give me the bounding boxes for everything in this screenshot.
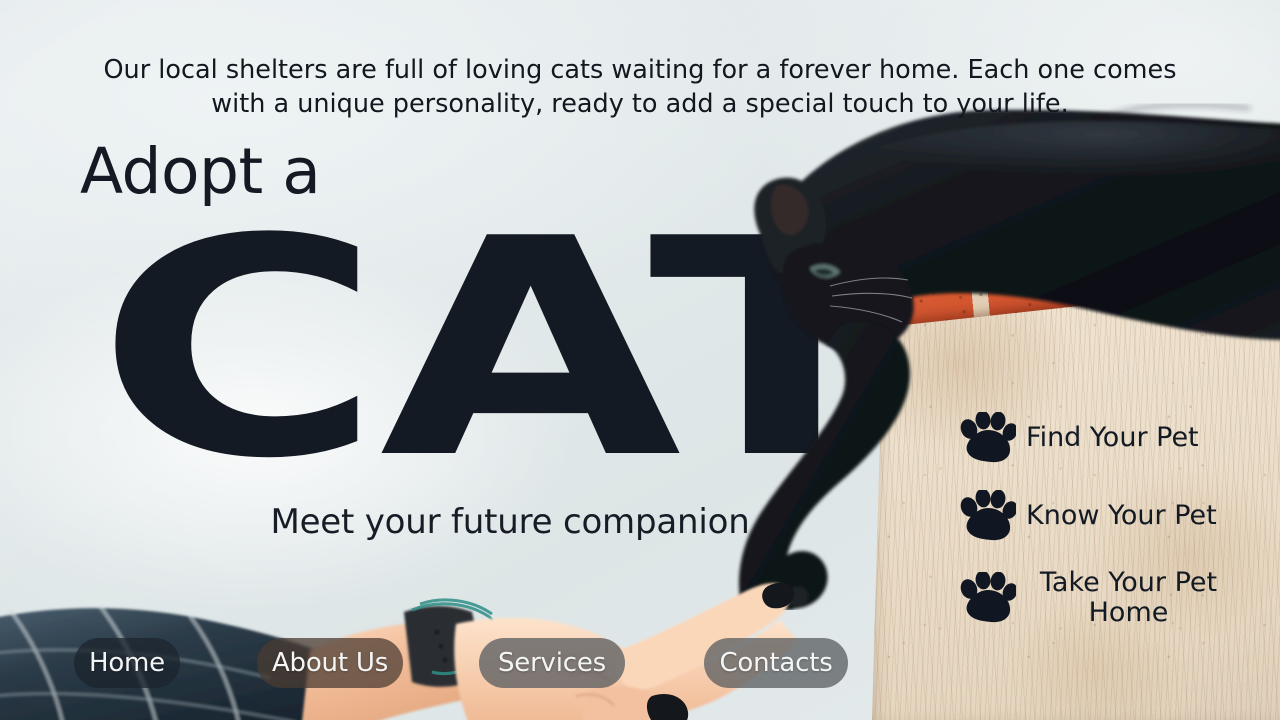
nav-item-home[interactable]: Home [74,638,180,688]
eyebrow-text: Adopt a [80,140,320,203]
feature-list: Find Your Pet Know Your Pet [958,412,1258,628]
paw-print-icon [958,412,1016,464]
nav-item-services[interactable]: Services [479,638,625,688]
feature-item-know-your-pet[interactable]: Know Your Pet [958,490,1258,542]
primary-navigation: Home About Us Services Contacts [0,638,1280,694]
feature-item-find-your-pet[interactable]: Find Your Pet [958,412,1258,464]
nav-item-contacts[interactable]: Contacts [704,638,848,688]
paw-print-icon [958,490,1016,542]
feature-label: Know Your Pet [1026,501,1217,531]
feature-label: Take Your Pet Home [1026,568,1231,628]
feature-label: Find Your Pet [1026,423,1199,453]
paw-print-icon [958,572,1016,624]
feature-item-take-your-pet-home[interactable]: Take Your Pet Home [958,568,1258,628]
tagline-text: Our local shelters are full of loving ca… [90,54,1190,121]
hero-banner: CAT [0,0,1280,720]
subtitle-text: Meet your future companion [180,505,840,539]
nav-item-about-us[interactable]: About Us [257,638,403,688]
